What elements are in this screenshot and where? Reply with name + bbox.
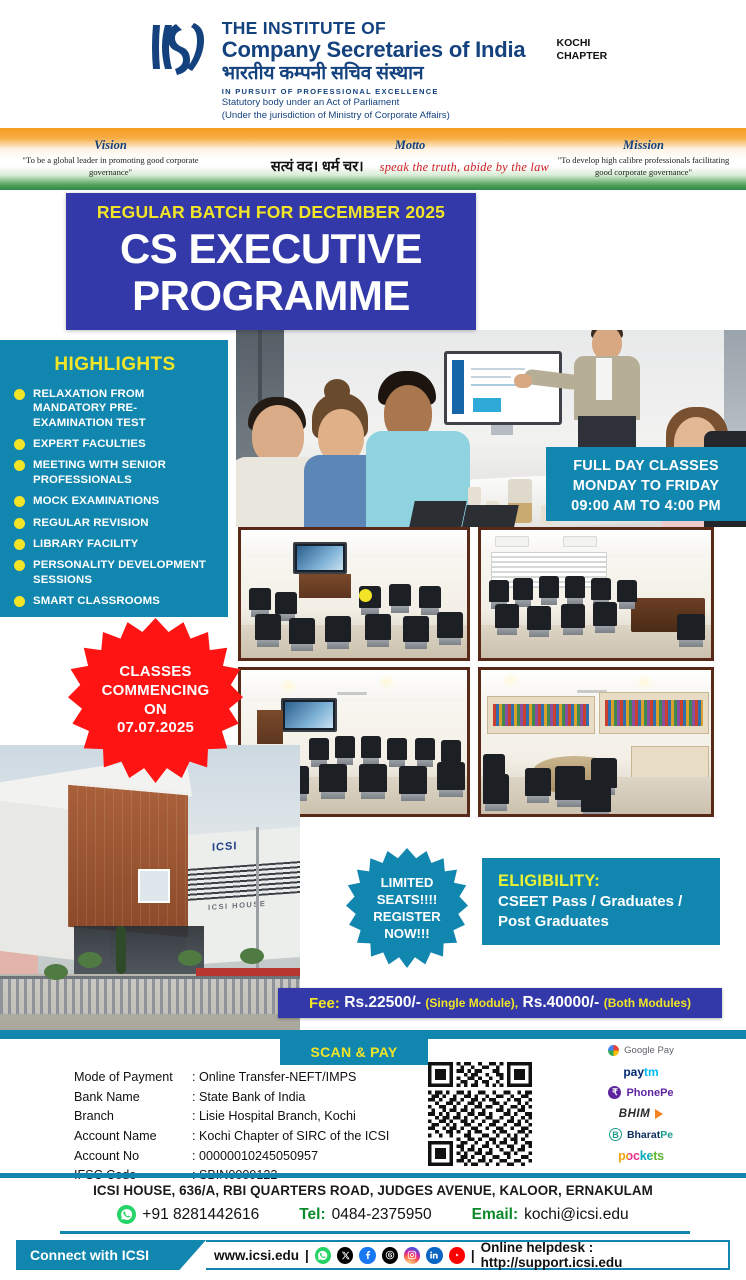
bank-detail-key: Bank Name: [74, 1088, 192, 1108]
phonepe-icon: ₹: [608, 1086, 621, 1099]
fee-note-both: (Both Modules): [604, 996, 691, 1010]
bank-detail-value: : Kochi Chapter of SIRC of the ICSI: [192, 1127, 389, 1147]
highlights-heading: HIGHLIGHTS: [14, 354, 216, 376]
highlight-label: REGULAR REVISION: [33, 516, 149, 530]
tricolor-band: Vision "To be a global leader in promoti…: [0, 128, 746, 190]
commencing-line2: COMMENCING: [102, 682, 210, 701]
scan-and-pay-label: SCAN & PAY: [280, 1039, 428, 1065]
institute-tagline: IN PURSUIT OF PROFESSIONAL EXCELLENCE: [222, 87, 526, 96]
contact-underline: [60, 1231, 690, 1234]
payment-logos-column: Google Pay paytm ₹ PhonePe BHIM B Bharat…: [586, 1040, 696, 1166]
highlight-label: SMART CLASSROOMS: [33, 594, 160, 608]
phonepe-logo: ₹ PhonePe: [586, 1082, 696, 1103]
institute-line3-hindi: भारतीय कम्पनी सचिव संस्थान: [222, 62, 526, 86]
threads-icon[interactable]: [382, 1247, 398, 1264]
highlight-item: LIBRARY FACILITY: [14, 537, 216, 551]
google-pay-label: Google Pay: [624, 1045, 674, 1056]
fee-amount-both: Rs.40000/-: [523, 994, 600, 1012]
highlight-item: MOCK EXAMINATIONS: [14, 494, 216, 508]
connect-label: Connect with ICSI: [16, 1240, 206, 1270]
pockets-label: pockets: [618, 1149, 664, 1163]
programme-title-line2: PROGRAMME: [66, 275, 476, 317]
highlight-label: LIBRARY FACILITY: [33, 537, 138, 551]
qr-code[interactable]: [428, 1062, 532, 1166]
bank-details-table: Mode of Payment : Online Transfer-NEFT/I…: [74, 1068, 389, 1186]
limited-seats-line4: NOW!!!: [373, 925, 440, 942]
pockets-logo: pockets: [586, 1145, 696, 1166]
limited-seats-badge: LIMITED SEATS!!!! REGISTER NOW!!!: [346, 848, 468, 968]
linkedin-icon[interactable]: [426, 1247, 442, 1264]
telephone-contact[interactable]: Tel: 0484-2375950: [299, 1206, 431, 1224]
facility-photo-classroom-1: [238, 527, 470, 661]
bullet-dot-icon: [14, 439, 25, 450]
chapter-block: KOCHI CHAPTER: [556, 37, 607, 63]
helpdesk-link[interactable]: Online helpdesk : http://support.icsi.ed…: [481, 1240, 728, 1270]
bharatpe-icon: B: [609, 1128, 622, 1141]
bhim-logo: BHIM: [586, 1103, 696, 1124]
highlight-label: RELAXATION FROM MANDATORY PRE-EXAMINATIO…: [33, 387, 216, 430]
highlight-item: REGULAR REVISION: [14, 516, 216, 530]
bank-detail-key: Mode of Payment: [74, 1068, 192, 1088]
highlight-label: MEETING WITH SENIOR PROFESSIONALS: [33, 458, 216, 487]
fee-banner: Fee: Rs.22500/- (Single Module), Rs.4000…: [278, 988, 722, 1018]
instagram-icon[interactable]: [404, 1247, 420, 1264]
bank-detail-key: Account No: [74, 1147, 192, 1167]
motto-column: Motto सत्यं वद। धर्म चर। speak the truth…: [260, 138, 560, 176]
highlight-item: PERSONALITY DEVELOPMENT SESSIONS: [14, 558, 216, 587]
x-twitter-icon[interactable]: [337, 1247, 353, 1264]
phonepe-label: PhonePe: [626, 1087, 673, 1099]
bank-detail-row: Account Name : Kochi Chapter of SIRC of …: [74, 1127, 389, 1147]
batch-label: REGULAR BATCH FOR DECEMBER 2025: [66, 202, 476, 223]
highlight-item: MEETING WITH SENIOR PROFESSIONALS: [14, 458, 216, 487]
institute-line2: Company Secretaries of India: [222, 38, 526, 62]
bullet-dot-icon: [14, 460, 25, 471]
bharatpe-logo: B BharatPe: [586, 1124, 696, 1145]
bank-detail-row: Account No : 00000010245050957: [74, 1147, 389, 1167]
building-icsi-sign: ICSI: [212, 840, 237, 854]
highlight-item: SMART CLASSROOMS: [14, 594, 216, 608]
motto-sanskrit: सत्यं वद। धर्म चर।: [271, 156, 364, 176]
email-label: Email:: [472, 1206, 519, 1224]
icsi-monogram-logo: [149, 17, 211, 77]
institute-statutory-line: Statutory body under an Act of Parliamen…: [222, 97, 526, 109]
institute-jurisdiction-line: (Under the jurisdiction of Ministry of C…: [222, 110, 526, 122]
instructor-figure: [566, 330, 644, 444]
tel-label: Tel:: [299, 1206, 325, 1224]
eligibility-panel: ELIGIBILITY: CSEET Pass / Graduates / Po…: [482, 858, 720, 945]
highlight-label: PERSONALITY DEVELOPMENT SESSIONS: [33, 558, 216, 587]
poster-root: THE INSTITUTE OF Company Secretaries of …: [0, 0, 746, 1280]
fee-note-single: (Single Module),: [425, 996, 518, 1010]
bank-detail-key: Account Name: [74, 1127, 192, 1147]
chapter-city: KOCHI: [556, 37, 607, 50]
eligibility-title: ELIGIBILITY:: [498, 872, 720, 891]
eligibility-line1: CSEET Pass / Graduates /: [498, 892, 720, 911]
highlight-item: RELAXATION FROM MANDATORY PRE-EXAMINATIO…: [14, 387, 216, 430]
programme-title-block: REGULAR BATCH FOR DECEMBER 2025 CS EXECU…: [66, 193, 476, 330]
bank-detail-row: Branch : Lisie Hospital Branch, Kochi: [74, 1107, 389, 1127]
bharatpe-label: BharatPe: [627, 1129, 673, 1141]
separator-1: |: [305, 1248, 309, 1263]
bullet-dot-icon: [14, 389, 25, 400]
bottom-strip: [0, 1274, 746, 1280]
mission-text: "To develop high calibre professionals f…: [551, 155, 736, 178]
class-timing-line3: 09:00 AM TO 4:00 PM: [546, 496, 746, 516]
bullet-dot-icon: [14, 518, 25, 529]
google-pay-logo: Google Pay: [586, 1040, 696, 1061]
mission-column: Mission "To develop high calibre profess…: [551, 138, 736, 178]
google-pay-icon: [608, 1045, 619, 1056]
website-link[interactable]: www.icsi.edu: [214, 1248, 299, 1263]
facility-photo-library: [478, 667, 714, 817]
whatsapp-contact[interactable]: +91 8281442616: [117, 1205, 259, 1224]
class-timing-line2: MONDAY TO FRIDAY: [546, 476, 746, 496]
commencing-line1: CLASSES: [102, 663, 210, 682]
motto-title: Motto: [260, 138, 560, 153]
programme-title-line1: CS EXECUTIVE: [66, 228, 476, 270]
whatsapp-number: +91 8281442616: [142, 1206, 259, 1224]
bhim-arrow-icon: [655, 1109, 663, 1119]
bullet-dot-icon: [14, 539, 25, 550]
fee-amount-single: Rs.22500/-: [344, 994, 421, 1012]
payment-section-divider: [0, 1030, 746, 1039]
bank-detail-value: : Online Transfer-NEFT/IMPS: [192, 1068, 356, 1088]
fee-label: Fee:: [309, 995, 340, 1012]
whatsapp-icon: [117, 1205, 136, 1224]
paytm-label: paytm: [623, 1065, 658, 1079]
bank-detail-value: : 00000010245050957: [192, 1147, 318, 1167]
paytm-logo: paytm: [586, 1061, 696, 1082]
photo-marker-dot: [359, 589, 372, 602]
highlight-item: EXPERT FACULTIES: [14, 437, 216, 451]
motto-english: speak the truth, abide by the law: [380, 160, 549, 175]
icsi-house-building-photo: ICSI ICSI HOUSE: [0, 745, 300, 1030]
eligibility-line2: Post Graduates: [498, 912, 720, 931]
vision-column: Vision "To be a global leader in promoti…: [18, 138, 203, 178]
bullet-dot-icon: [14, 496, 25, 507]
bank-detail-value: : State Bank of India: [192, 1088, 305, 1108]
email-address: kochi@icsi.edu: [524, 1206, 628, 1224]
tel-number: 0484-2375950: [332, 1206, 432, 1224]
chapter-label: CHAPTER: [556, 50, 607, 63]
bhim-label: BHIM: [619, 1108, 650, 1120]
limited-seats-line2: SEATS!!!!: [373, 891, 440, 908]
youtube-icon[interactable]: [449, 1247, 465, 1264]
class-timing-panel: FULL DAY CLASSES MONDAY TO FRIDAY 09:00 …: [546, 447, 746, 521]
vision-title: Vision: [18, 138, 203, 153]
separator-2: |: [471, 1248, 475, 1263]
highlight-label: EXPERT FACULTIES: [33, 437, 146, 451]
institute-line1: THE INSTITUTE OF: [222, 19, 526, 38]
bank-detail-key: Branch: [74, 1107, 192, 1127]
limited-seats-line1: LIMITED: [373, 874, 440, 891]
commencing-line3: ON: [102, 701, 210, 720]
mission-title: Mission: [551, 138, 736, 153]
facebook-icon[interactable]: [359, 1247, 375, 1264]
bank-detail-value: : Lisie Hospital Branch, Kochi: [192, 1107, 356, 1127]
highlights-panel: HIGHLIGHTS RELAXATION FROM MANDATORY PRE…: [0, 340, 228, 617]
office-address: ICSI HOUSE, 636/A, RBI QUARTERS ROAD, JU…: [0, 1183, 746, 1198]
bank-detail-row: Mode of Payment : Online Transfer-NEFT/I…: [74, 1068, 389, 1088]
email-contact[interactable]: Email: kochi@icsi.edu: [472, 1206, 629, 1224]
bullet-dot-icon: [14, 560, 25, 571]
facility-photo-classroom-2: [478, 527, 714, 661]
limited-seats-line3: REGISTER: [373, 908, 440, 925]
commencing-date: 07.07.2025: [102, 719, 210, 738]
poster-header: THE INSTITUTE OF Company Secretaries of …: [0, 0, 746, 128]
class-timing-line1: FULL DAY CLASSES: [546, 456, 746, 476]
whatsapp-icon[interactable]: [315, 1247, 331, 1264]
highlight-label: MOCK EXAMINATIONS: [33, 494, 159, 508]
connect-bar: Connect with ICSI www.icsi.edu |: [16, 1240, 730, 1270]
institute-name-block: THE INSTITUTE OF Company Secretaries of …: [222, 5, 526, 122]
vision-text: "To be a global leader in promoting good…: [18, 155, 203, 178]
contact-divider: [0, 1173, 746, 1178]
contact-footer: ICSI HOUSE, 636/A, RBI QUARTERS ROAD, JU…: [0, 1180, 746, 1232]
bullet-dot-icon: [14, 596, 25, 607]
bank-detail-row: Bank Name : State Bank of India: [74, 1088, 389, 1108]
